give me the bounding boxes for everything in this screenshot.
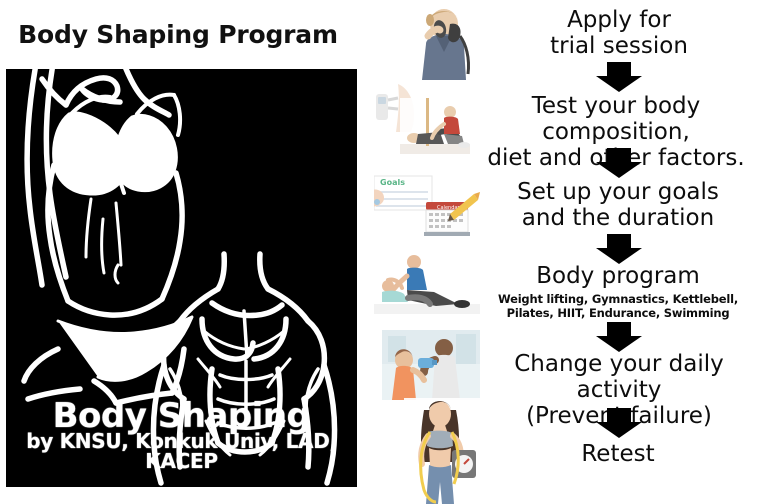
flow-step-goals-line2: and the duration xyxy=(494,206,742,232)
thumbnail-body-program xyxy=(374,252,480,314)
body-shaping-poster: Body Shaping by KNSU, Konkuk Univ, LAD, … xyxy=(6,69,357,487)
flow-step-apply-line2: trial session xyxy=(500,34,738,60)
poster-caption: Body Shaping xyxy=(6,399,357,433)
slide-canvas: Body Shaping Program xyxy=(0,0,768,504)
flow-arrow-4 xyxy=(596,322,642,352)
flow-step-apply: Apply for trial session xyxy=(500,8,738,60)
page-title: Body Shaping Program xyxy=(0,20,356,49)
flow-step-program-detail2: Pilates, HIIT, Endurance, Swimming xyxy=(492,306,744,320)
flow-arrow-5 xyxy=(596,408,642,438)
flow-step-program-line1: Body program xyxy=(500,264,736,290)
flow-step-apply-line1: Apply for xyxy=(500,8,738,34)
flow-step-activity-line1: Change your daily activity xyxy=(480,352,758,404)
thumbnail-daily-activity xyxy=(382,330,480,400)
flow-step-retest-line1: Retest xyxy=(520,442,716,468)
thumbnail-apply xyxy=(406,4,480,80)
flow-arrow-2 xyxy=(596,148,642,178)
flow-arrow-3 xyxy=(596,234,642,264)
poster-subcaption: by KNSU, Konkuk Univ, LAD, KACEP xyxy=(6,431,357,471)
flow-step-program-detail1: Weight lifting, Gymnastics, Kettlebell, xyxy=(492,292,744,306)
thumbnail-goals: Goals Calendar xyxy=(374,168,480,240)
flow-step-goals: Set up your goals and the duration xyxy=(494,180,742,232)
svg-text:Goals: Goals xyxy=(380,178,405,187)
flow-step-program-detail: Weight lifting, Gymnastics, Kettlebell, … xyxy=(492,292,744,321)
thumbnail-flexibility-test xyxy=(400,98,470,154)
flow-step-goals-line1: Set up your goals xyxy=(494,180,742,206)
flow-arrow-1 xyxy=(596,62,642,92)
flow-step-test-line1: Test your body composition, xyxy=(464,94,768,146)
flow-step-retest: Retest xyxy=(520,442,716,468)
flow-step-program: Body program xyxy=(500,264,736,290)
thumbnail-retest xyxy=(404,398,480,504)
